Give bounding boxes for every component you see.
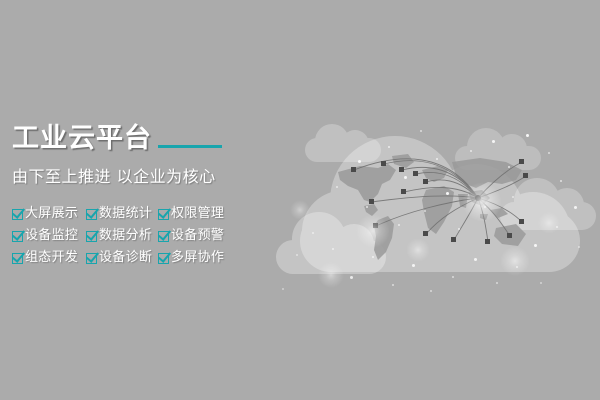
feature-label: 设备诊断 — [99, 251, 152, 265]
feature-item[interactable]: 组态开发 — [12, 247, 84, 269]
feature-label: 多屏协作 — [171, 251, 224, 265]
text-layer: 工业云平台 由下至上推进 以企业为核心 大屏展示 数据统计 权限管理 设备监控 — [0, 0, 280, 400]
check-icon — [86, 231, 97, 242]
feature-item[interactable]: 数据统计 — [86, 203, 156, 225]
check-icon — [158, 209, 169, 220]
feature-item[interactable]: 设备监控 — [12, 225, 84, 247]
feature-label: 设备监控 — [25, 229, 78, 243]
feature-label: 组态开发 — [25, 251, 78, 265]
title-underline-rule — [158, 145, 222, 148]
subtitle: 由下至上推进 以企业为核心 — [12, 167, 216, 187]
check-icon — [158, 253, 169, 264]
feature-label: 数据统计 — [99, 207, 152, 221]
industrial-cloud-platform-banner: 工业云平台 由下至上推进 以企业为核心 大屏展示 数据统计 权限管理 设备监控 — [0, 0, 600, 400]
feature-item[interactable]: 设备预警 — [158, 225, 224, 247]
feature-label: 设备预警 — [171, 229, 224, 243]
feature-item[interactable]: 设备诊断 — [86, 247, 156, 269]
check-icon — [12, 231, 23, 242]
check-icon — [12, 253, 23, 264]
check-icon — [158, 231, 169, 242]
check-icon — [12, 209, 23, 220]
check-icon — [86, 209, 97, 220]
check-icon — [86, 253, 97, 264]
page-title: 工业云平台 — [12, 124, 152, 154]
feature-item[interactable]: 权限管理 — [158, 203, 224, 225]
feature-label: 权限管理 — [171, 207, 224, 221]
feature-label: 大屏展示 — [25, 207, 78, 221]
feature-item[interactable]: 数据分析 — [86, 225, 156, 247]
feature-label: 数据分析 — [99, 229, 152, 243]
feature-item[interactable]: 多屏协作 — [158, 247, 224, 269]
feature-grid: 大屏展示 数据统计 权限管理 设备监控 数据分析 设备预警 — [12, 203, 224, 269]
world-network-graphic — [330, 150, 550, 270]
title-row: 工业云平台 — [12, 124, 222, 154]
feature-item[interactable]: 大屏展示 — [12, 203, 84, 225]
